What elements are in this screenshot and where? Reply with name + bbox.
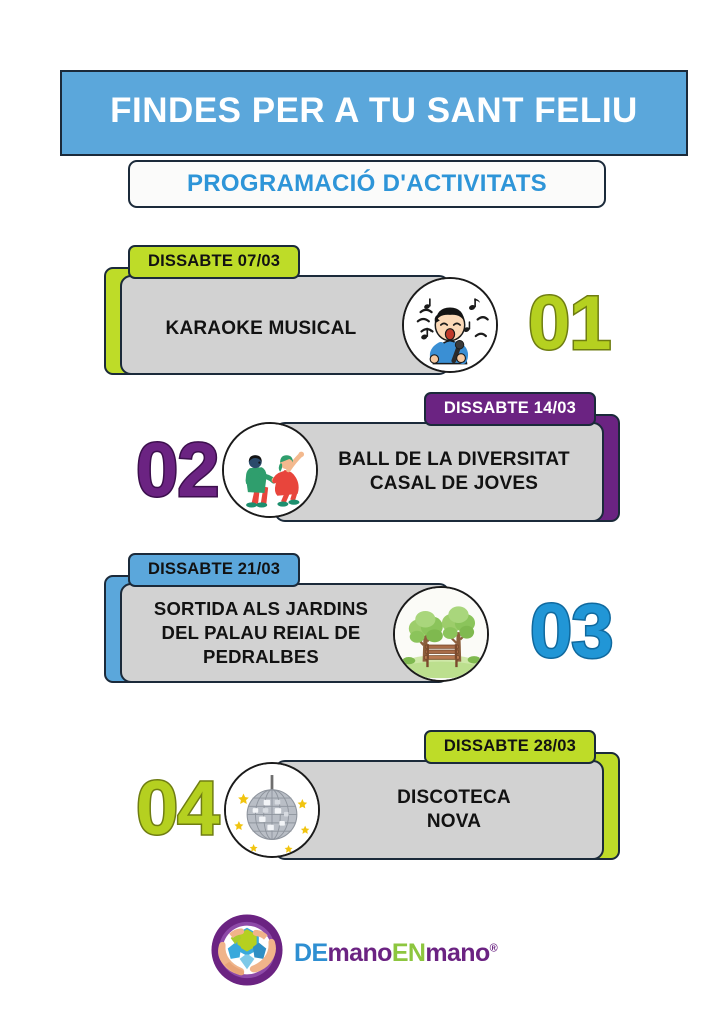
date-badge: DISSABTE 14/03 [424,392,596,426]
subtitle-box: PROGRAMACIÓ D'ACTIVITATS [128,160,606,208]
step-number: 02 [136,416,219,526]
logo-part-de: DE [294,939,328,967]
page-title: FINDES PER A TU SANT FELIU [110,93,638,134]
registered-trademark-symbol: ® [490,942,498,954]
date-badge: DISSABTE 07/03 [128,245,300,279]
date-label: DISSABTE 21/03 [148,561,280,580]
subtitle-text: PROGRAMACIÓ D'ACTIVITATS [187,170,547,198]
date-label: DISSABTE 14/03 [444,400,576,419]
footer-logo: DEmanoENmano® [210,912,490,988]
disco-ball-icon [224,762,320,858]
poster-canvas: FINDES PER A TU SANT FELIU PROGRAMACIÓ D… [0,0,724,1024]
activity-row: DISSABTE 28/03 DISCOTECA NOVA [0,730,724,875]
karaoke-singer-icon [402,277,498,373]
step-number: 01 [528,269,611,379]
date-badge: DISSABTE 21/03 [128,553,300,587]
activity-row: DISSABTE 07/03 KARAOKE MUSICAL [0,245,724,390]
logo-part-mano-2: mano [425,939,489,967]
logo-wordmark: DEmanoENmano® [294,941,498,966]
activity-row: DISSABTE 14/03 BALL DE LA DIVERSITAT CAS… [0,392,724,537]
date-badge: DISSABTE 28/03 [424,730,596,764]
header-banner: FINDES PER A TU SANT FELIU [60,70,688,156]
park-bench-trees-icon [393,586,489,682]
activity-card [274,760,604,860]
activity-card [274,422,604,522]
date-label: DISSABTE 28/03 [444,738,576,757]
activity-row: DISSABTE 21/03 SORTIDA ALS JARDINS DEL P… [0,553,724,698]
date-label: DISSABTE 07/03 [148,253,280,272]
hands-holding-ball-icon [210,913,284,987]
activity-card [120,275,450,375]
logo-part-mano-1: mano [328,939,392,967]
step-number: 04 [136,754,219,864]
logo-part-en: EN [392,939,426,967]
step-number: 03 [530,577,613,687]
dancing-couple-icon [222,422,318,518]
